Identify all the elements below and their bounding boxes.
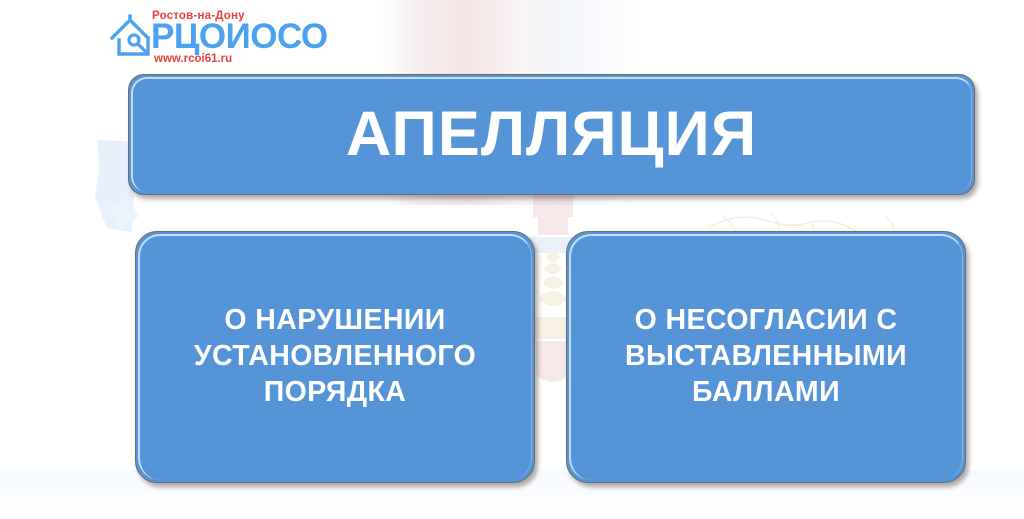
- branch-label-violation-of-order: О НАРУШЕНИИ УСТАНОВЛЕННОГО ПОРЯДКА: [136, 303, 534, 411]
- branch-label-disagreement-with-scores: О НЕСОГЛАСИИ С ВЫСТАВЛЕННЫМИ БАЛЛАМИ: [567, 303, 965, 411]
- rcoioso-logo: Ростов-на-Дону РЦОИОСО www.rcoi61.ru: [110, 6, 320, 74]
- logo-url-label: www.rcoi61.ru: [154, 53, 232, 65]
- branch-box-violation-of-order: О НАРУШЕНИИ УСТАНОВЛЕННОГО ПОРЯДКА: [135, 231, 535, 483]
- appeal-title-box: АПЕЛЛЯЦИЯ: [128, 74, 975, 195]
- slide-canvas: Ростов-на-Дону РЦОИОСО www.rcoi61.ru АПЕ…: [0, 0, 1024, 519]
- branch-box-disagreement-with-scores: О НЕСОГЛАСИИ С ВЫСТАВЛЕННЫМИ БАЛЛАМИ: [566, 231, 966, 483]
- logo-name-label: РЦОИОСО: [151, 19, 328, 54]
- pale-blue-shape-watermark-2: [108, 196, 138, 230]
- page-title: АПЕЛЛЯЦИЯ: [346, 101, 757, 167]
